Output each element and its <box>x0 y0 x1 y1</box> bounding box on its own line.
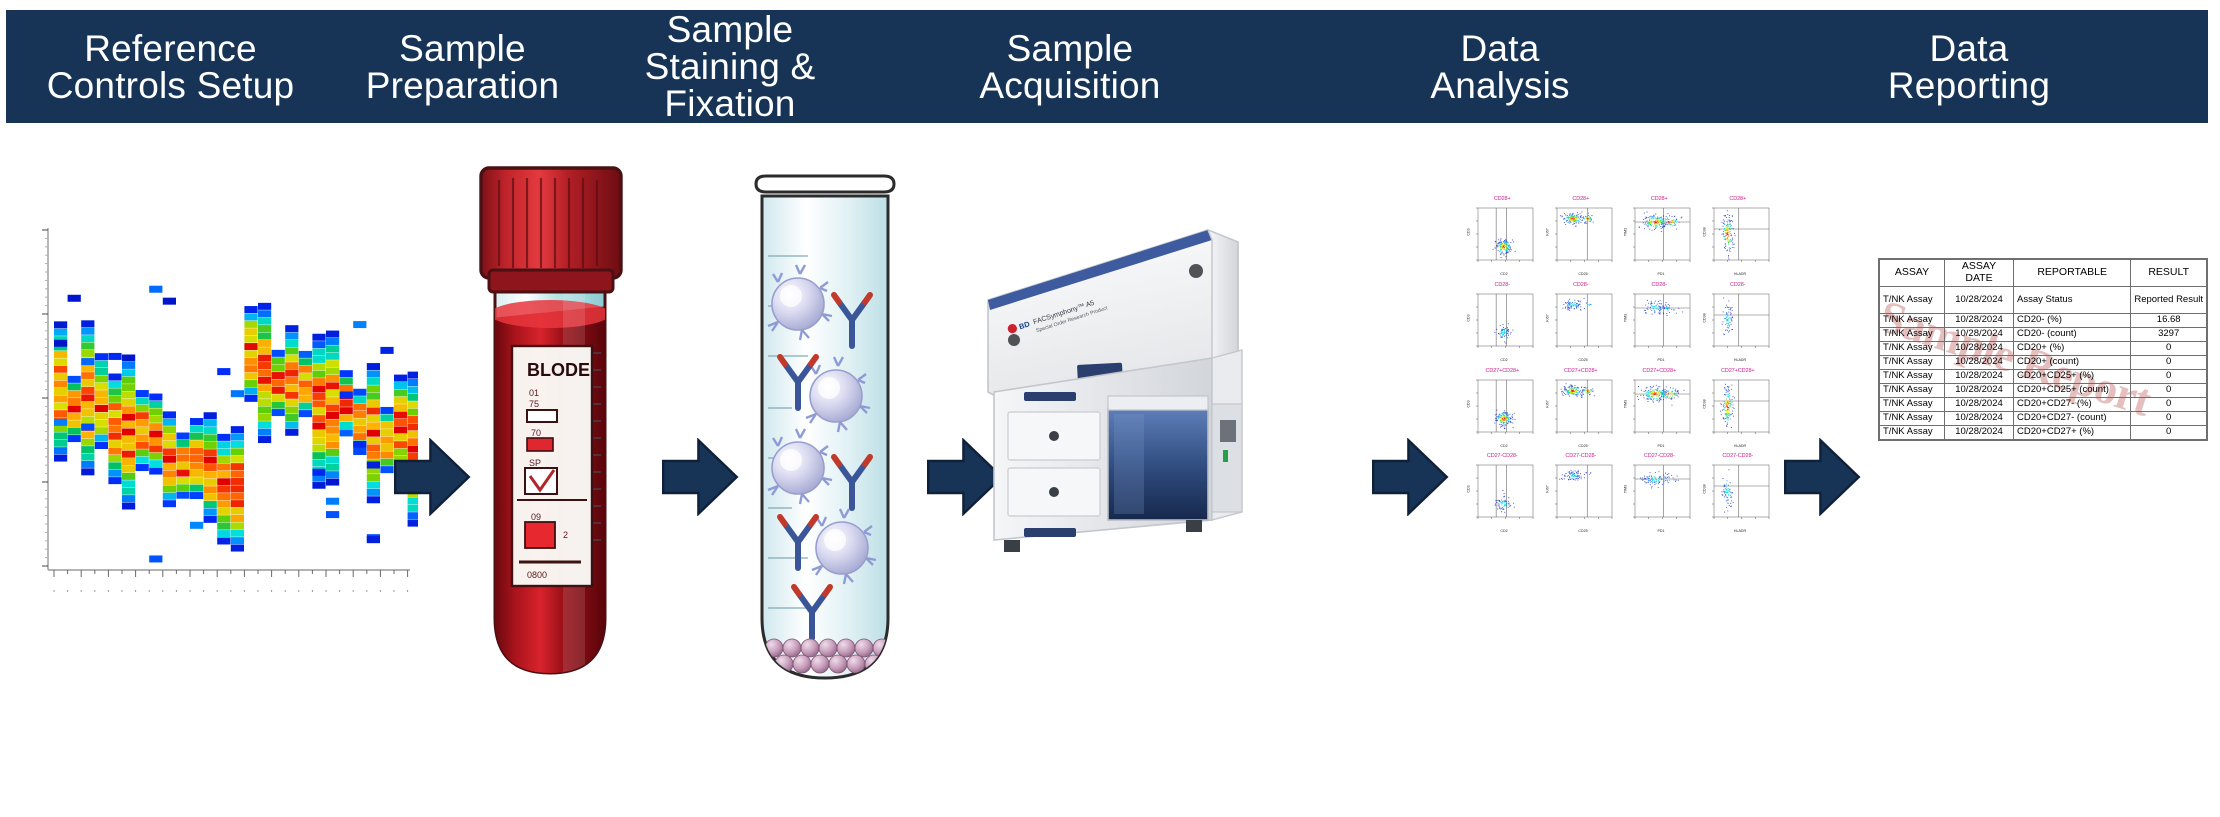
table-cell-rep: CD20+CD27+ (%) <box>2014 425 2131 439</box>
table-cell-rep: CD20+CD27- (%) <box>2014 397 2131 411</box>
table-cell-date: 10/28/2024 <box>1945 383 2014 397</box>
flow-scatter-plot: CD2CD3 <box>1465 291 1537 363</box>
table-row: T/NK Assay10/28/2024CD20+ (%)0 <box>1880 341 2207 355</box>
flow-plot-y-axis-label: Ki67 <box>1545 486 1549 493</box>
flow-plot-y-axis-label: CD38 <box>1702 485 1706 494</box>
flow-plot-cell-r1-c3[interactable]: CD28+PD1TIM3 <box>1622 196 1697 279</box>
table-row: T/NK Assay10/28/2024CD20+CD25+ (count)0 <box>1880 383 2207 397</box>
flow-plot-title: CD28- <box>1622 282 1697 288</box>
flow-plot-x-axis-label: CD2 <box>1500 272 1507 276</box>
flow-plot-x-axis-label: HLADR <box>1733 529 1746 533</box>
flow-plot-cell-r2-c2[interactable]: CD28-CD25Ki67 <box>1544 282 1619 365</box>
flow-scatter-plot: CD25Ki67 <box>1544 205 1616 277</box>
flow-scatter-plot: PD1TIM3 <box>1622 377 1694 449</box>
table-cell-assay: T/NK Assay <box>1880 355 1945 369</box>
flow-plot-cell-r1-c2[interactable]: CD28+CD25Ki67 <box>1544 196 1619 279</box>
flow-plot-y-axis-label: CD3 <box>1466 314 1470 321</box>
flow-plot-cell-r4-c1[interactable]: CD27-CD28-CD2CD3 <box>1465 453 1540 536</box>
table-row: T/NK Assay10/28/2024CD20- (%)16.68 <box>1880 313 2207 327</box>
table-cell-assay: T/NK Assay <box>1880 397 1945 411</box>
table-cell-assay: T/NK Assay <box>1880 341 1945 355</box>
table-cell-date: 10/28/2024 <box>1945 313 2014 327</box>
flow-plot-title: CD27-CD28- <box>1465 453 1540 459</box>
table-cell-rep: CD20+ (%) <box>2014 341 2131 355</box>
flow-plot-title: CD28+ <box>1544 196 1619 202</box>
flow-plot-title: CD27-CD28- <box>1544 453 1619 459</box>
assay-report-table-icon: Sample Report ASSAY ASSAY DATE REPORTABL… <box>1878 258 2208 441</box>
table-cell-assay: T/NK Assay <box>1880 425 1945 439</box>
flow-plot-title: CD27+CD28+ <box>1544 368 1619 374</box>
table-cell-res: 0 <box>2131 397 2207 411</box>
flow-scatter-plot: PD1TIM3 <box>1622 462 1694 534</box>
table-cell-res: Reported Result <box>2131 286 2207 313</box>
table-cell-date: 10/28/2024 <box>1945 355 2014 369</box>
flow-plot-x-axis-label: HLADR <box>1733 444 1746 448</box>
table-cell-res: 0 <box>2131 383 2207 397</box>
flow-plot-y-axis-label: Ki67 <box>1545 228 1549 235</box>
flow-scatter-plot: PD1TIM3 <box>1622 205 1694 277</box>
flow-plot-y-axis-label: Ki67 <box>1545 314 1549 321</box>
sample-staining-tube-panel <box>740 156 910 716</box>
column-header-result: RESULT <box>2131 259 2207 286</box>
flow-plot-y-axis-label: TIM3 <box>1623 314 1627 322</box>
flow-plot-x-axis-label: CD25 <box>1578 444 1587 448</box>
flow-scatter-plot: CD25Ki67 <box>1544 291 1616 363</box>
flow-plot-y-axis-label: CD38 <box>1702 227 1706 236</box>
assay-report-table: ASSAY ASSAY DATE REPORTABLE RESULT T/NK … <box>1879 259 2207 440</box>
table-cell-assay: T/NK Assay <box>1880 327 1945 341</box>
svg-text:0800: 0800 <box>527 570 547 580</box>
flow-plot-title: CD27-CD28- <box>1701 453 1776 459</box>
table-cell-date: 10/28/2024 <box>1945 397 2014 411</box>
table-cell-date: 10/28/2024 <box>1945 327 2014 341</box>
flow-scatter-plot: HLADRCD38 <box>1701 291 1773 363</box>
table-cell-res: 0 <box>2131 411 2207 425</box>
flow-scatter-plot: CD2CD3 <box>1465 205 1537 277</box>
table-cell-res: 0 <box>2131 369 2207 383</box>
flow-plot-y-axis-label: CD3 <box>1466 228 1470 235</box>
table-cell-assay: T/NK Assay <box>1880 383 1945 397</box>
table-cell-assay: T/NK Assay <box>1880 369 1945 383</box>
svg-text:SP: SP <box>529 458 541 468</box>
blood-tube-label-text: BLODE <box>527 360 590 380</box>
sample-acquisition-cytometer-panel: BD FACSymphony™ A5 Special Order Researc… <box>980 168 1380 568</box>
svg-text:75: 75 <box>529 399 539 409</box>
table-cell-date: 10/28/2024 <box>1945 286 2014 313</box>
table-cell-res: 0 <box>2131 425 2207 439</box>
table-cell-date: 10/28/2024 <box>1945 341 2014 355</box>
header-step-data-reporting[interactable]: Data Reporting <box>1730 30 2208 104</box>
table-row: T/NK Assay10/28/2024CD20- (count)3297 <box>1880 327 2207 341</box>
svg-text:09: 09 <box>531 512 541 522</box>
flow-plot-title: CD28- <box>1544 282 1619 288</box>
header-step-data-analysis[interactable]: Data Analysis <box>1270 30 1730 104</box>
table-cell-res: 16.68 <box>2131 313 2207 327</box>
svg-text:70: 70 <box>531 428 541 438</box>
flow-scatter-plot: PD1TIM3 <box>1622 291 1694 363</box>
table-cell-date: 10/28/2024 <box>1945 369 2014 383</box>
right-arrow-icon-2 <box>660 438 740 516</box>
flow-plot-cell-r2-c1[interactable]: CD28-CD2CD3 <box>1465 282 1540 365</box>
flow-plot-x-axis-label: HLADR <box>1733 358 1746 362</box>
column-header-reportable: REPORTABLE <box>2014 259 2131 286</box>
table-cell-rep: CD20+ (count) <box>2014 355 2131 369</box>
blood-collection-tube-icon: BLODE 01 75 70 SP 09 2 0800 <box>455 148 645 708</box>
flow-plot-x-axis-label: CD25 <box>1578 358 1587 362</box>
right-arrow-icon-5 <box>1782 438 1862 516</box>
table-cell-assay: T/NK Assay <box>1880 411 1945 425</box>
flow-plot-title: CD28+ <box>1465 196 1540 202</box>
flow-plot-y-axis-label: TIM3 <box>1623 485 1627 493</box>
flow-plot-x-axis-label: CD2 <box>1500 358 1507 362</box>
table-cell-rep: CD20- (%) <box>2014 313 2131 327</box>
table-row: T/NK Assay10/28/2024CD20+CD27- (count)0 <box>1880 411 2207 425</box>
table-row: T/NK Assay10/28/2024CD20+CD25+ (%)0 <box>1880 369 2207 383</box>
table-header-row: ASSAY ASSAY DATE REPORTABLE RESULT <box>1880 259 2207 286</box>
header-step-sample-preparation[interactable]: Sample Preparation <box>335 30 590 104</box>
column-header-assay: ASSAY <box>1880 259 1945 286</box>
flow-plot-x-axis-label: PD1 <box>1658 272 1665 276</box>
sample-preparation-blood-tube-panel: BLODE 01 75 70 SP 09 2 0800 <box>455 148 645 708</box>
flow-scatter-plot: CD2CD3 <box>1465 377 1537 449</box>
flow-plot-cell-r3-c3[interactable]: CD27+CD28+PD1TIM3 <box>1622 368 1697 451</box>
flow-plot-cell-r4-c3[interactable]: CD27-CD28-PD1TIM3 <box>1622 453 1697 536</box>
table-cell-rep: CD20+CD25+ (count) <box>2014 383 2131 397</box>
header-step-sample-staining-fixation[interactable]: Sample Staining & Fixation <box>590 11 870 122</box>
flow-scatter-plot: CD25Ki67 <box>1544 377 1616 449</box>
svg-text:01: 01 <box>529 388 539 398</box>
table-cell-rep: CD20- (count) <box>2014 327 2131 341</box>
workflow-content-strip: BLODE 01 75 70 SP 09 2 0800 <box>0 128 2220 817</box>
density-heatmap-icon <box>18 218 418 618</box>
flow-plot-x-axis-label: PD1 <box>1658 529 1665 533</box>
right-arrow-icon-4 <box>1370 438 1450 516</box>
reference-controls-heatmap-panel <box>18 218 418 618</box>
flow-plot-title: CD27-CD28- <box>1622 453 1697 459</box>
flow-plot-cell-r3-c4[interactable]: CD27+CD28+HLADRCD38 <box>1701 368 1776 451</box>
workflow-header-banner: Reference Controls Setup Sample Preparat… <box>6 10 2208 123</box>
flow-scatter-plot: HLADRCD38 <box>1701 377 1773 449</box>
flow-plot-title: CD27+CD28+ <box>1465 368 1540 374</box>
flow-plot-y-axis-label: TIM3 <box>1623 228 1627 236</box>
flow-plot-cell-r3-c2[interactable]: CD27+CD28+CD25Ki67 <box>1544 368 1619 451</box>
table-cell-rep: CD20+CD27- (count) <box>2014 411 2131 425</box>
header-step-sample-acquisition[interactable]: Sample Acquisition <box>870 30 1270 104</box>
flow-plot-cell-r1-c4[interactable]: CD28+HLADRCD38 <box>1701 196 1776 279</box>
flow-plot-cell-r4-c2[interactable]: CD27-CD28-CD25Ki67 <box>1544 453 1619 536</box>
flow-cytometry-plot-grid-icon: CD28+CD2CD3CD28+CD25Ki67CD28+PD1TIM3CD28… <box>1465 196 1775 536</box>
flow-scatter-plot: CD25Ki67 <box>1544 462 1616 534</box>
flow-plot-x-axis-label: PD1 <box>1658 358 1665 362</box>
table-cell-assay: T/NK Assay <box>1880 313 1945 327</box>
flow-plot-cell-r3-c1[interactable]: CD27+CD28+CD2CD3 <box>1465 368 1540 451</box>
table-row: T/NK Assay10/28/2024CD20+CD27+ (%)0 <box>1880 425 2207 439</box>
flow-plot-y-axis-label: CD3 <box>1466 400 1470 407</box>
flow-plot-title: CD27+CD28+ <box>1622 368 1697 374</box>
table-cell-date: 10/28/2024 <box>1945 425 2014 439</box>
flow-plot-x-axis-label: CD25 <box>1578 272 1587 276</box>
flow-plot-title: CD27+CD28+ <box>1701 368 1776 374</box>
flow-plot-y-axis-label: TIM3 <box>1623 399 1627 407</box>
flow-scatter-plot: HLADRCD38 <box>1701 462 1773 534</box>
flow-plot-y-axis-label: CD3 <box>1466 486 1470 493</box>
table-cell-date: 10/28/2024 <box>1945 411 2014 425</box>
flow-plot-x-axis-label: PD1 <box>1658 444 1665 448</box>
flow-scatter-plot: CD2CD3 <box>1465 462 1537 534</box>
flow-plot-x-axis-label: CD2 <box>1500 444 1507 448</box>
svg-text:2: 2 <box>563 530 568 540</box>
flow-plot-x-axis-label: HLADR <box>1733 272 1746 276</box>
table-cell-assay: T/NK Assay <box>1880 286 1945 313</box>
test-tube-with-antibodies-icon <box>740 156 910 716</box>
table-row: T/NK Assay10/28/2024CD20+ (count)0 <box>1880 355 2207 369</box>
flow-plot-cell-r2-c4[interactable]: CD28-HLADRCD38 <box>1701 282 1776 365</box>
flow-plot-y-axis-label: Ki67 <box>1545 400 1549 407</box>
flow-plot-x-axis-label: CD2 <box>1500 529 1507 533</box>
table-cell-rep: Assay Status <box>2014 286 2131 313</box>
flow-cytometer-icon: BD FACSymphony™ A5 Special Order Researc… <box>980 168 1380 568</box>
header-step-reference-controls-setup[interactable]: Reference Controls Setup <box>6 30 335 104</box>
flow-plot-title: CD28+ <box>1622 196 1697 202</box>
table-cell-res: 0 <box>2131 341 2207 355</box>
flow-plot-title: CD28- <box>1701 282 1776 288</box>
flow-plot-title: CD28- <box>1465 282 1540 288</box>
flow-plot-cell-r4-c4[interactable]: CD27-CD28-HLADRCD38 <box>1701 453 1776 536</box>
data-reporting-table-panel: Sample Report ASSAY ASSAY DATE REPORTABL… <box>1878 254 2208 444</box>
column-header-assay-date: ASSAY DATE <box>1945 259 2014 286</box>
flow-plot-title: CD28+ <box>1701 196 1776 202</box>
flow-plot-y-axis-label: CD38 <box>1702 399 1706 408</box>
table-row: T/NK Assay10/28/2024CD20+CD27- (%)0 <box>1880 397 2207 411</box>
flow-plot-y-axis-label: CD38 <box>1702 313 1706 322</box>
flow-plot-x-axis-label: CD25 <box>1578 529 1587 533</box>
table-row: T/NK Assay10/28/2024Assay StatusReported… <box>1880 286 2207 313</box>
table-cell-res: 3297 <box>2131 327 2207 341</box>
table-cell-rep: CD20+CD25+ (%) <box>2014 369 2131 383</box>
table-cell-res: 0 <box>2131 355 2207 369</box>
data-analysis-flow-plot-grid-panel: CD28+CD2CD3CD28+CD25Ki67CD28+PD1TIM3CD28… <box>1465 196 1775 536</box>
flow-plot-cell-r2-c3[interactable]: CD28-PD1TIM3 <box>1622 282 1697 365</box>
flow-plot-cell-r1-c1[interactable]: CD28+CD2CD3 <box>1465 196 1540 279</box>
flow-scatter-plot: HLADRCD38 <box>1701 205 1773 277</box>
